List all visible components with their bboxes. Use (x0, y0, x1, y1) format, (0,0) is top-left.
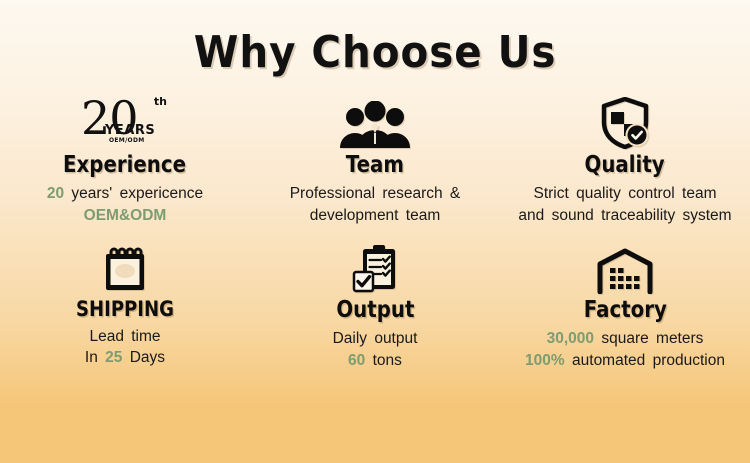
feature-desc-experience: 20 years' expericence OEM&ODM (47, 183, 203, 226)
factory-automation-text: automated production (572, 352, 725, 369)
logo-superscript: th (154, 95, 167, 108)
feature-desc-team: Professional research & development team (290, 183, 461, 226)
feature-desc-quality: Strict quality control team and sound tr… (518, 183, 731, 226)
factory-automation-number: 100% (525, 352, 565, 369)
shield-check-icon (599, 97, 651, 149)
feature-heading-output: Output (336, 298, 414, 322)
anniversary-20th-icon: 20 th YEARS OEM/ODM (79, 97, 171, 149)
feature-cell-team: Team Professional research & development… (250, 97, 500, 242)
team-group-icon (338, 97, 412, 149)
team-desc-line1: Professional research & (290, 183, 461, 204)
feature-heading-quality: Quality (585, 153, 665, 177)
logo-years-label: YEARS (105, 123, 155, 138)
shipping-lead-unit: Days (130, 349, 165, 366)
shipping-lead-prefix: In (85, 349, 98, 366)
feature-desc-output: Daily output 60 tons (333, 328, 418, 371)
output-desc-line1: Daily output (333, 328, 418, 349)
factory-area-unit: square meters (601, 330, 703, 347)
factory-icon (596, 242, 654, 294)
why-choose-us-banner: Why Choose Us 20 th YEARS OEM/ODM Experi… (0, 0, 750, 463)
experience-years-number: 20 (47, 185, 64, 202)
features-grid: 20 th YEARS OEM/ODM Experience 20 years'… (0, 97, 750, 387)
shipping-lead-days: 25 (105, 349, 122, 366)
feature-cell-shipping: SHIPPING Lead time In 25 Days (0, 242, 250, 387)
feature-cell-quality: Quality Strict quality control team and … (500, 97, 750, 242)
experience-oem-odm: OEM&ODM (47, 205, 203, 226)
feature-cell-experience: 20 th YEARS OEM/ODM Experience 20 years'… (0, 97, 250, 242)
feature-desc-shipping: Lead time In 25 Days (85, 326, 165, 369)
feature-heading-experience: Experience (63, 153, 186, 177)
quality-desc-line2: and sound traceability system (518, 205, 731, 226)
factory-area-number: 30,000 (547, 330, 594, 347)
experience-years-text: years' expericence (71, 185, 203, 202)
shipping-desc-line1: Lead time (85, 326, 165, 347)
feature-desc-factory: 30,000 square meters 100% automated prod… (525, 328, 725, 371)
title-container: Why Choose Us (0, 0, 750, 75)
calendar-icon (102, 242, 148, 294)
feature-cell-factory: Factory 30,000 square meters 100% automa… (500, 242, 750, 387)
feature-heading-factory: Factory (583, 298, 666, 322)
logo-sub-label: OEM/ODM (109, 137, 145, 144)
output-daily-unit: tons (373, 352, 402, 369)
page-title: Why Choose Us (194, 31, 557, 75)
quality-desc-line1: Strict quality control team (518, 183, 731, 204)
team-desc-line2: development team (290, 205, 461, 226)
output-daily-amount: 60 (348, 352, 365, 369)
feature-heading-team: Team (346, 153, 404, 177)
feature-cell-output: Output Daily output 60 tons (250, 242, 500, 387)
feature-heading-shipping: SHIPPING (76, 298, 174, 320)
clipboard-check-icon (350, 242, 400, 294)
